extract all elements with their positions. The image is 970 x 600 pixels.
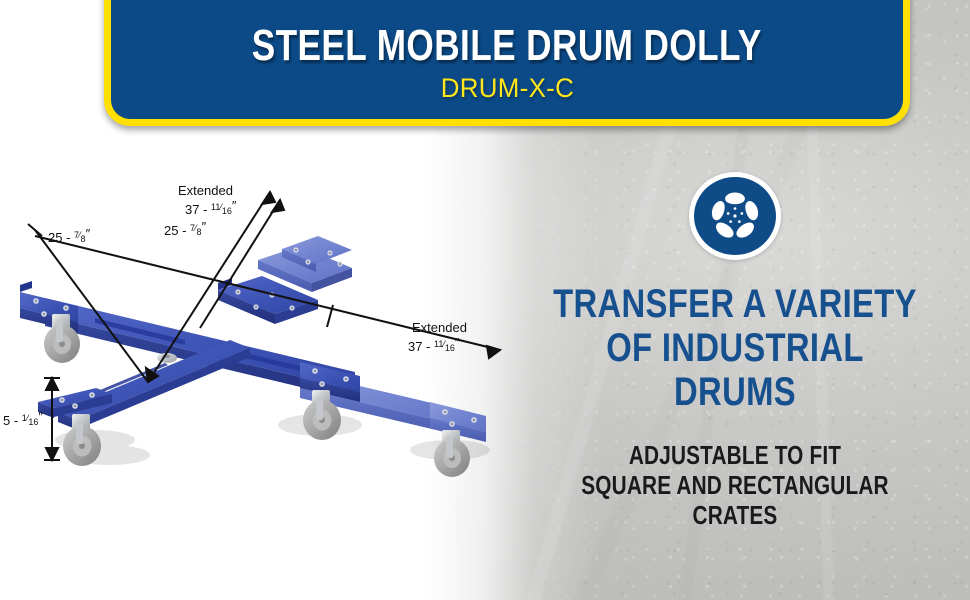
product-model-code: DRUM-X-C xyxy=(440,73,573,103)
product-diagram: Extended 37 - 11⁄16″ 25 - 7⁄8″ 25 - 7⁄8″… xyxy=(0,150,530,550)
feature-headline-line-1: TRANSFER A VARIETY xyxy=(542,282,927,326)
dim-value: 25 - 7⁄8″ xyxy=(164,219,207,238)
dim-prefix: Extended xyxy=(412,320,467,335)
feature-headline-line-2: OF INDUSTRIAL DRUMS xyxy=(542,326,927,414)
dimension-label-extended-width-right: Extended 37 - 11⁄16″ xyxy=(408,320,467,354)
dim-prefix: Extended xyxy=(178,183,233,198)
feature-subheadline-line-2: SQUARE AND RECTANGULAR CRATES xyxy=(547,470,923,530)
caster-wheel-right xyxy=(434,430,470,477)
drum-dolly-product xyxy=(20,236,486,477)
feature-subheadline-line-1: ADJUSTABLE TO FIT xyxy=(547,440,923,470)
dim-value: 25 - 7⁄8″ xyxy=(48,226,91,245)
dim-value: 5 - 1⁄16″ xyxy=(3,409,43,428)
header-banner: STEEL MOBILE DRUM DOLLY DRUM-X-C xyxy=(104,0,910,126)
dimension-label-retracted-depth-center: 25 - 7⁄8″ xyxy=(164,219,207,238)
dimension-label-overall-height: 5 - 1⁄16″ xyxy=(3,409,43,428)
page-title: STEEL MOBILE DRUM DOLLY xyxy=(252,22,762,70)
feature-panel: TRANSFER A VARIETY OF INDUSTRIAL DRUMS A… xyxy=(500,160,970,530)
feature-headline: TRANSFER A VARIETY OF INDUSTRIAL DRUMS xyxy=(500,282,970,414)
dimension-label-extended-depth-top: Extended 37 - 11⁄16″ xyxy=(178,183,237,217)
feature-subheadline: ADJUSTABLE TO FIT SQUARE AND RECTANGULAR… xyxy=(500,440,970,530)
wheel-rim-icon xyxy=(689,172,781,260)
dim-value: 37 - 11⁄16″ xyxy=(185,198,237,217)
dimension-label-retracted-width-left: 25 - 7⁄8″ xyxy=(48,226,91,245)
